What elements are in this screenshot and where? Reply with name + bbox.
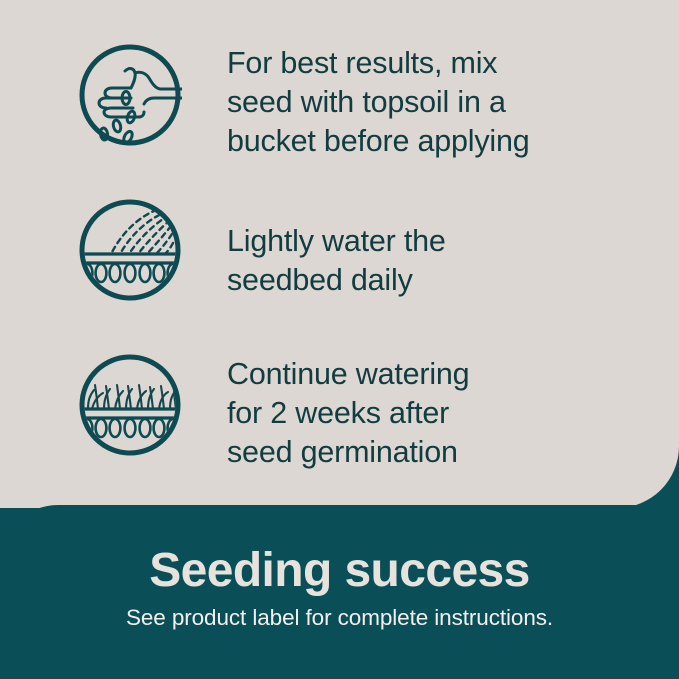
watering-seedbed-icon: [78, 197, 182, 303]
footer-content: Seeding success See product label for co…: [0, 505, 679, 631]
list-item: Lightly water the seedbed daily: [0, 197, 679, 303]
list-item: For best results, mix seed with topsoil …: [0, 42, 679, 161]
footer-title: Seeding success: [0, 505, 679, 596]
footer-banner: Seeding success See product label for co…: [0, 505, 679, 679]
germinated-grass-seedbed-icon: [78, 352, 182, 458]
list-item-label: Continue watering for 2 weeks after seed…: [227, 352, 469, 472]
seeding-instructions-card: For best results, mix seed with topsoil …: [0, 0, 679, 679]
footer-subtitle: See product label for complete instructi…: [0, 596, 679, 631]
hand-sowing-seeds-icon: [78, 42, 182, 148]
list-item-label: For best results, mix seed with topsoil …: [227, 42, 530, 161]
list-item: Continue watering for 2 weeks after seed…: [0, 352, 679, 472]
list-item-label: Lightly water the seedbed daily: [227, 197, 446, 300]
